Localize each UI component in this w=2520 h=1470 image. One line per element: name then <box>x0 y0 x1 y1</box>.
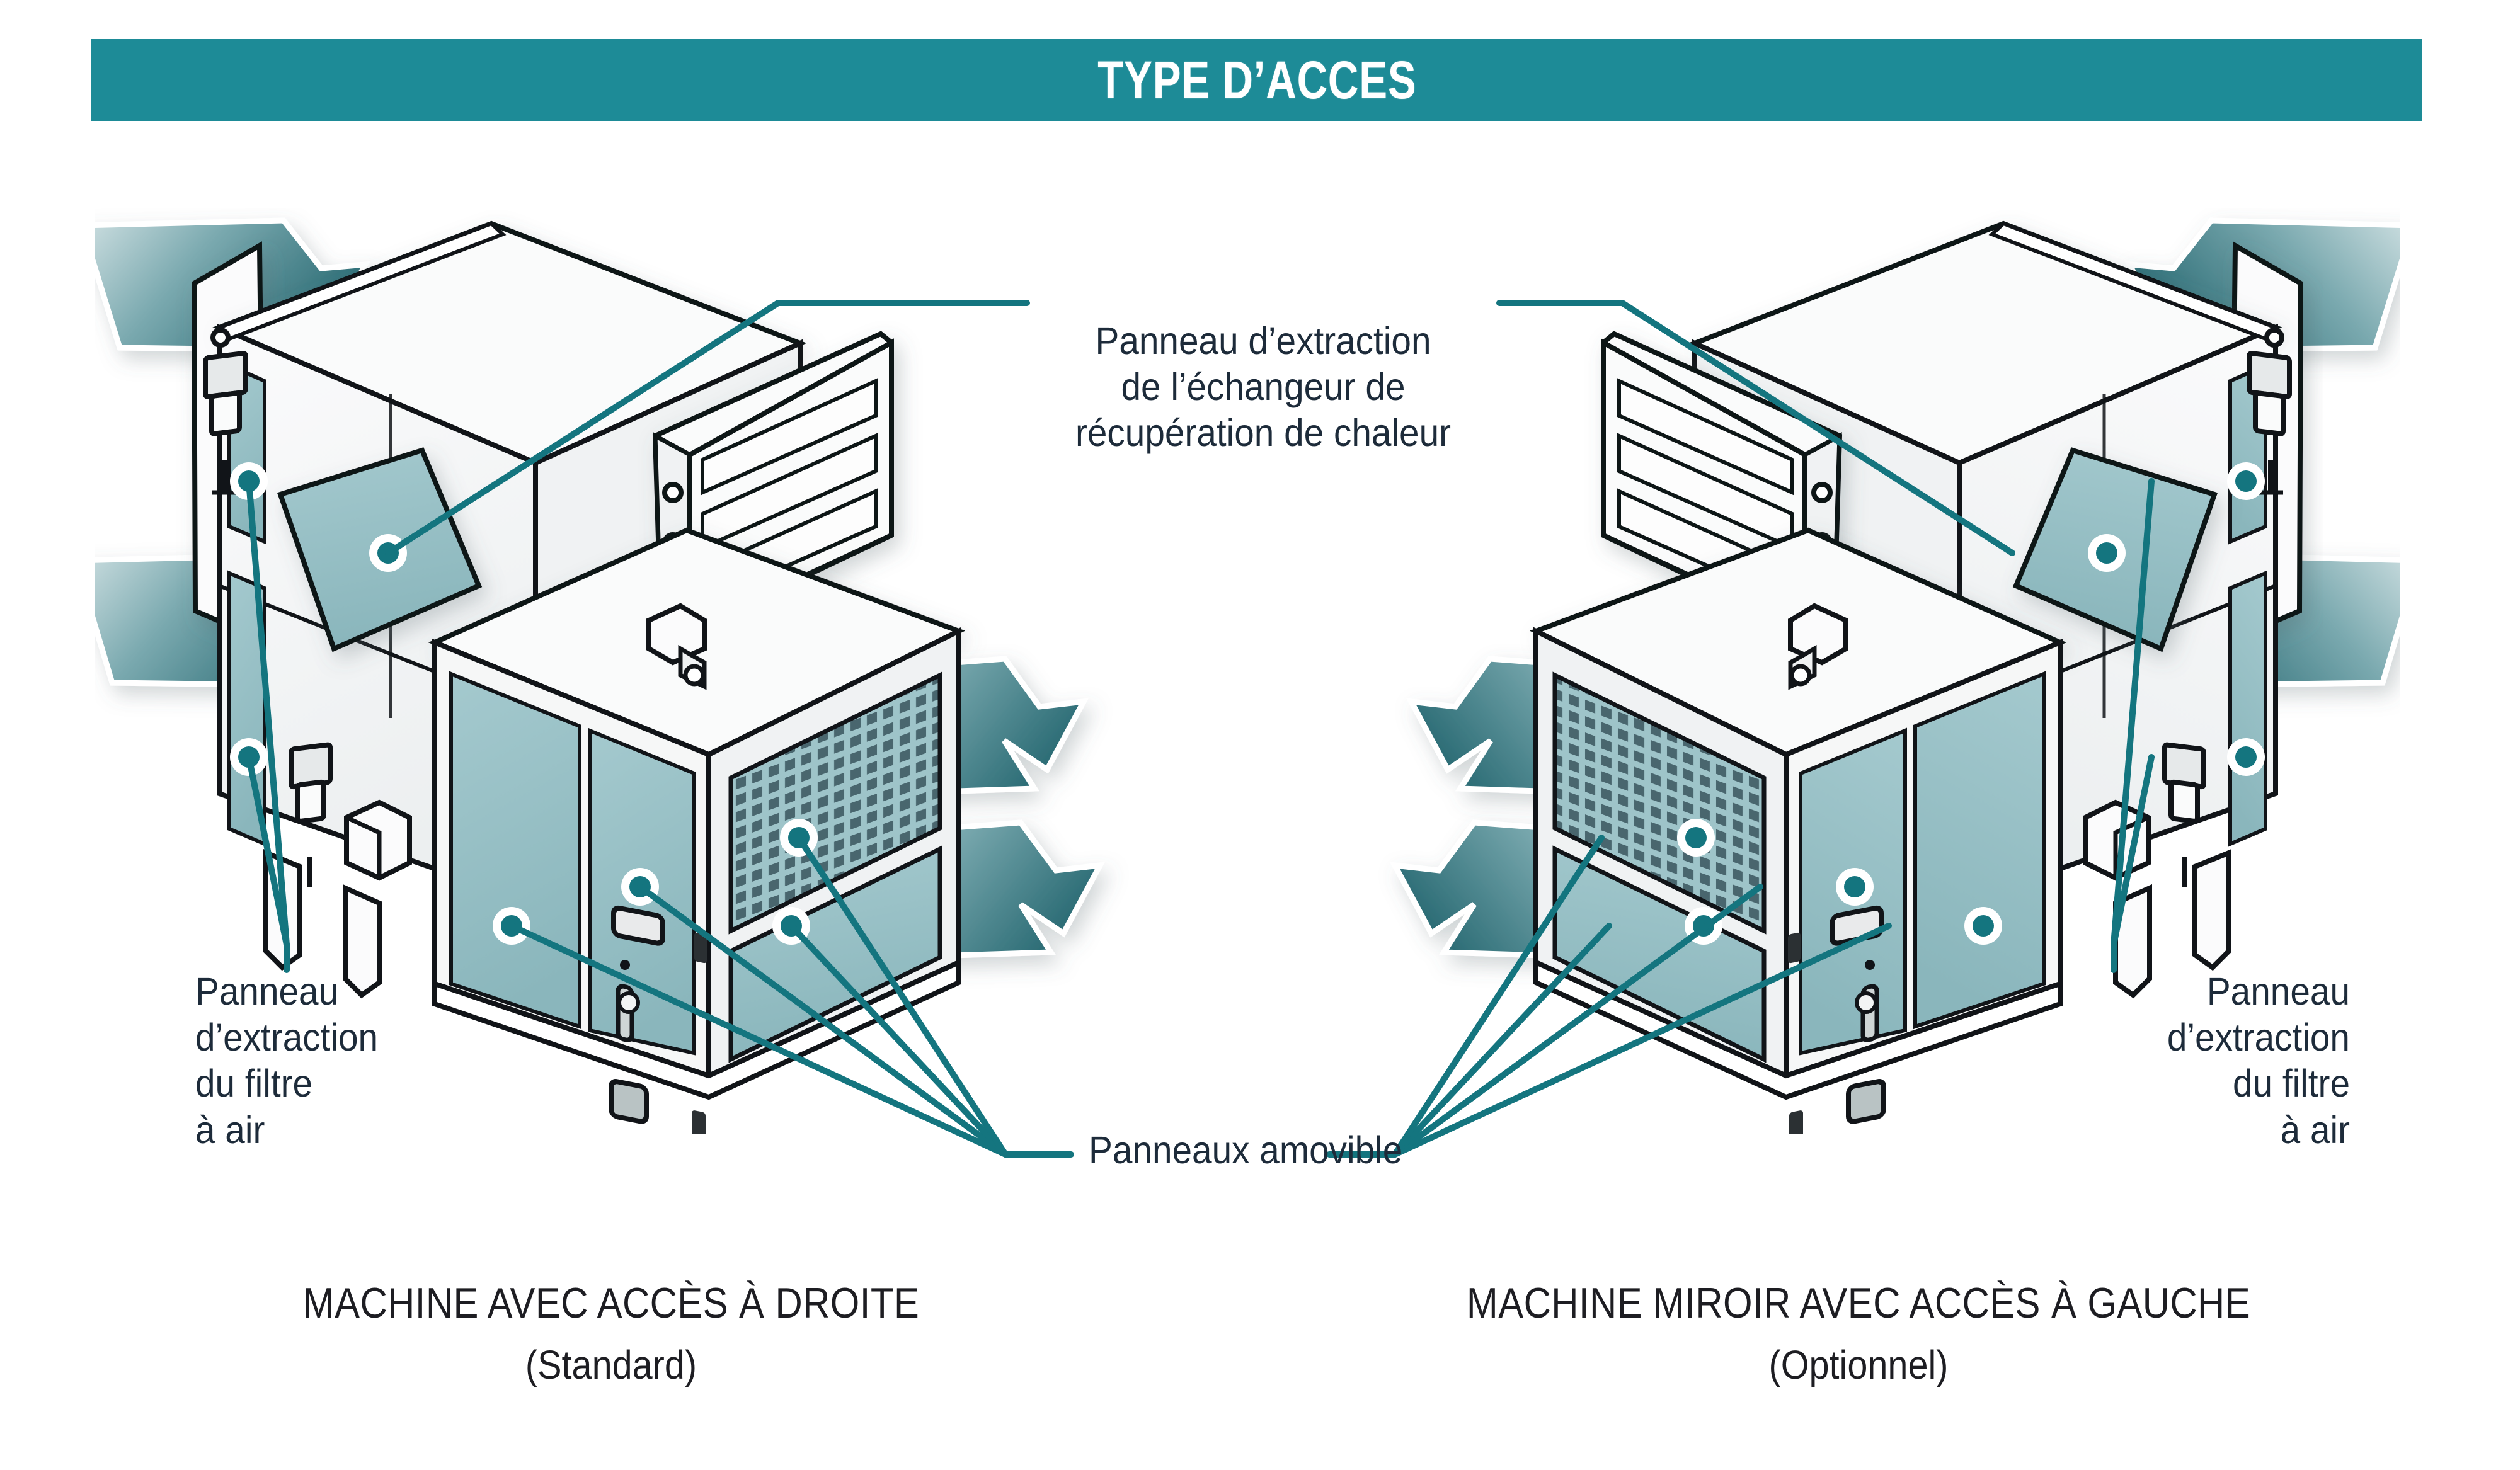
callout-dot-mesh-grille[interactable] <box>1677 819 1715 857</box>
callout-label-heat-exchanger: Panneau d’extraction de l’échangeur de r… <box>1061 318 1465 457</box>
caption-mirror-main: MACHINE MIROIR AVEC ACCÈS À GAUCHE <box>1387 1279 2330 1328</box>
removable-door-left[interactable] <box>451 674 580 1027</box>
callout-dot-side-panel[interactable] <box>772 907 810 945</box>
door-latch-lower[interactable] <box>692 1110 706 1134</box>
callout-dot-side-panel[interactable] <box>1685 907 1722 945</box>
air-filter-panel-lower[interactable] <box>229 573 265 844</box>
control-box <box>346 802 409 878</box>
callout-label-air-filter-right: Panneau d’extraction du filtre à air <box>2092 969 2350 1153</box>
callout-label-air-filter-left: Panneau d’extraction du filtre à air <box>195 969 453 1153</box>
caption-machine-mirror: MACHINE MIROIR AVEC ACCÈS À GAUCHE (Opti… <box>1323 1279 2394 1388</box>
caption-standard-sub: (Standard) <box>152 1342 1070 1388</box>
callout-dot-door-right[interactable] <box>1836 868 1874 906</box>
page-title: TYPE D’ACCES <box>1097 54 1416 106</box>
callout-dot-filter-upper[interactable] <box>2227 462 2265 500</box>
callout-dot-door-left[interactable] <box>1964 907 2002 945</box>
door-latch-upper[interactable] <box>1788 932 1801 964</box>
removable-door-left[interactable] <box>1915 674 2044 1027</box>
callout-dot-door-right[interactable] <box>621 868 659 906</box>
caption-standard-main: MACHINE AVEC ACCÈS À DROITE <box>162 1279 1060 1328</box>
door-latch-upper[interactable] <box>694 932 707 964</box>
air-filter-panel-lower[interactable] <box>2230 573 2265 844</box>
callout-dot-mesh-grille[interactable] <box>780 819 818 857</box>
support-foot-front <box>2195 853 2229 967</box>
diagram-canvas: TYPE D’ACCES <box>0 0 2520 1470</box>
callout-dot-heat-exchanger[interactable] <box>2088 534 2126 572</box>
callout-dot-filter-upper[interactable] <box>230 462 268 500</box>
callout-dot-door-left[interactable] <box>493 907 530 945</box>
door-latch-lower[interactable] <box>1789 1110 1803 1134</box>
header-bar: TYPE D’ACCES <box>91 39 2422 121</box>
callout-dot-filter-lower[interactable] <box>230 738 268 776</box>
control-box <box>2085 802 2148 878</box>
callout-label-removable-panels: Panneaux amovible <box>1089 1127 1487 1173</box>
callout-dot-filter-lower[interactable] <box>2227 738 2265 776</box>
callout-dot-heat-exchanger[interactable] <box>369 534 407 572</box>
support-foot-front <box>266 853 300 967</box>
caption-mirror-sub: (Optionnel) <box>1377 1342 2340 1388</box>
caption-machine-standard: MACHINE AVEC ACCÈS À DROITE (Standard) <box>101 1279 1121 1388</box>
